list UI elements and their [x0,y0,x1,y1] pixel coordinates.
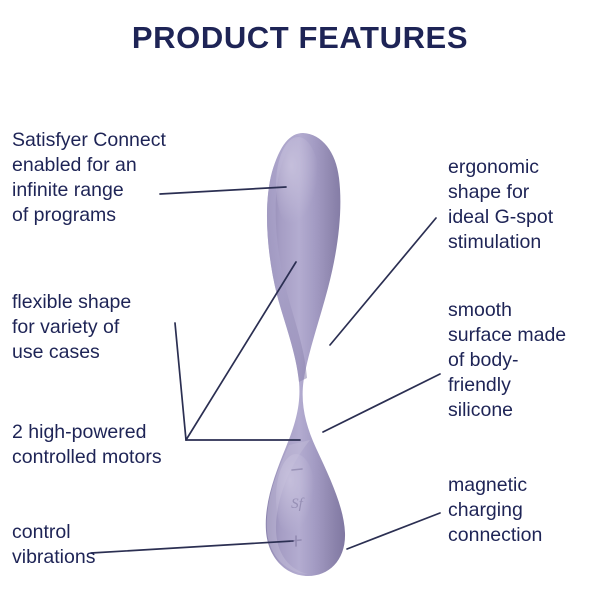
leader-smooth [323,374,440,432]
product-body [266,133,345,576]
leader-lines [91,187,440,553]
tip-gloss [276,137,320,233]
product-features-infographic: PRODUCT FEATURES [0,0,600,600]
feature-magnetic-charging: magnetic charging connection [448,473,598,548]
feature-flexible-shape: flexible shape for variety of use cases [12,290,212,365]
feature-smooth-surface: smooth surface made of body- friendly si… [448,298,598,423]
feature-ergonomic-shape: ergonomic shape for ideal G-spot stimula… [448,155,598,255]
leader-magnetic [347,513,440,549]
brand-logo: Sf [291,496,305,512]
minus-button-icon[interactable] [292,469,302,470]
feature-motors: 2 high-powered controlled motors [12,420,227,470]
leader-ergonomic [330,218,436,345]
feature-connect: Satisfyer Connect enabled for an infinit… [12,128,212,228]
feature-control-vibrations: control vibrations [12,520,212,570]
